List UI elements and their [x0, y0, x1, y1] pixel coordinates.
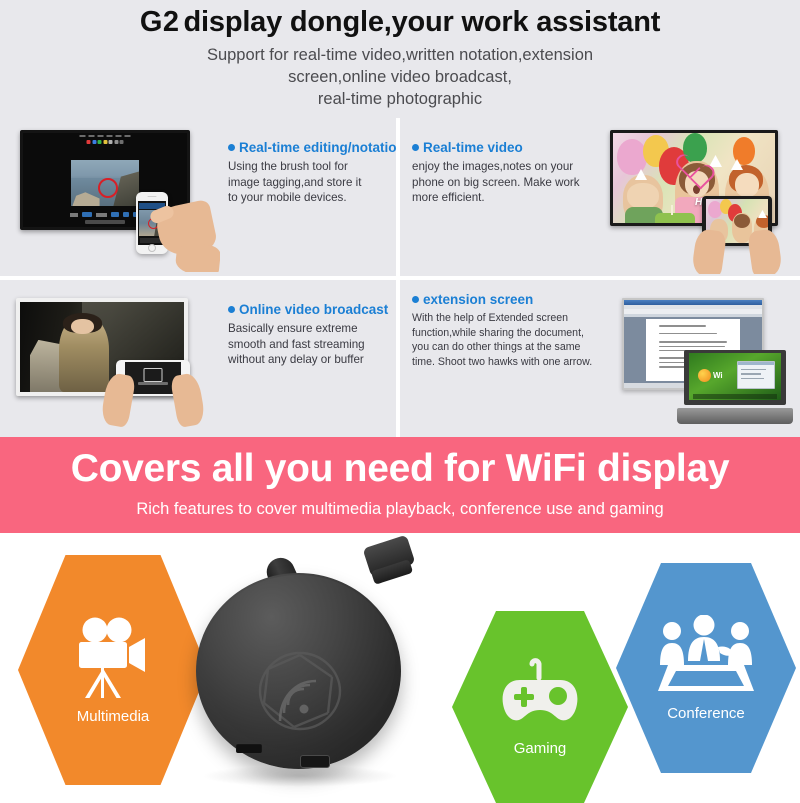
bullet-dot-icon	[228, 306, 235, 313]
feature-body-line: enjoy the images,notes on your	[412, 159, 587, 175]
dongle-reset-button[interactable]	[300, 755, 330, 768]
conference-people-icon	[654, 615, 758, 699]
feature-body-line: without any delay or buffer	[228, 352, 390, 368]
laptop-illustration: Wi	[684, 350, 786, 424]
hexagon-multimedia[interactable]: Multimedia	[18, 555, 208, 785]
feature-cell-real-time-editing: Real-time editing/notation Using the bru…	[0, 118, 396, 276]
photo-extension-screen: Wi	[606, 284, 798, 434]
feature-body-line: more efficient.	[412, 190, 587, 206]
feature-body-line: Using the brush tool for	[228, 159, 388, 175]
hand-illustration	[747, 228, 783, 274]
page-subtitle-line: Support for real-time video,written nota…	[207, 44, 593, 66]
feature-body-line: function,while sharing the document,	[412, 326, 608, 341]
feature-body-line: phone on big screen. Make work	[412, 175, 587, 191]
photo-real-time-video: Happy Birthday	[598, 122, 798, 274]
feature-heading: Real-time editing/notation	[228, 140, 388, 155]
page-subtitle-line: screen,online video broadcast,	[207, 66, 593, 88]
banner-subtitle: Rich features to cover multimedia playba…	[136, 500, 663, 519]
feature-body: Basically ensure extreme smooth and fast…	[228, 321, 390, 368]
hand-illustration	[691, 228, 727, 274]
page-subtitle-line: real-time photographic	[207, 88, 593, 110]
feature-body-line: smooth and fast streaming	[228, 337, 390, 353]
cast-icon	[144, 368, 163, 382]
photo-real-time-editing	[8, 124, 220, 272]
bullet-dot-icon	[412, 144, 419, 151]
gamepad-icon	[498, 658, 582, 736]
feature-text-online-video-broadcast: Online video broadcast Basically ensure …	[228, 302, 390, 368]
dongle-top-face	[202, 575, 395, 751]
feature-heading: Online video broadcast	[228, 302, 390, 317]
hexagon-label-gaming: Gaming	[514, 740, 567, 757]
feature-heading: Real-time video	[412, 140, 587, 155]
feature-body-line: Basically ensure extreme	[228, 321, 390, 337]
feature-body: enjoy the images,notes on your phone on …	[412, 159, 587, 206]
windows-logo-icon	[698, 369, 711, 382]
feature-text-real-time-video: Real-time video enjoy the images,notes o…	[412, 140, 587, 206]
page-title-rest: display dongle,your work assistant	[184, 6, 661, 38]
hexagon-gaming[interactable]: Gaming	[452, 611, 628, 803]
hexagon-conference[interactable]: Conference	[616, 563, 796, 773]
feature-body-line: time. Shoot two hawks with one arrow.	[412, 355, 608, 370]
feature-body: Using the brush tool for image tagging,a…	[228, 159, 388, 206]
hexagon-label-conference: Conference	[667, 705, 745, 722]
product-marketing-page: G2display dongle,your work assistant Sup…	[0, 0, 800, 800]
feature-body-line: you can do other things at the same	[412, 340, 608, 355]
feature-text-real-time-editing: Real-time editing/notation Using the bru…	[228, 140, 388, 206]
product-dongle-image	[196, 547, 426, 791]
feature-cell-extension-screen: extension screen With the help of Extend…	[400, 280, 800, 437]
feature-heading-label: Real-time editing/notation	[239, 140, 396, 155]
feature-body-line: With the help of Extended screen	[412, 311, 608, 326]
page-subtitle: Support for real-time video,written nota…	[207, 44, 593, 110]
feature-text-extension-screen: extension screen With the help of Extend…	[412, 292, 608, 369]
dongle-micro-usb-port	[236, 743, 262, 753]
feature-body-line: image tagging,and store it	[228, 175, 388, 191]
feature-cell-online-video-broadcast: Online video broadcast Basically ensure …	[0, 280, 396, 437]
feature-heading-label: Online video broadcast	[239, 302, 388, 317]
header-section: G2display dongle,your work assistant Sup…	[0, 0, 800, 118]
movie-camera-icon	[71, 616, 155, 702]
feature-grid: Real-time editing/notation Using the bru…	[0, 118, 800, 437]
wrist-illustration	[175, 242, 220, 272]
feature-body: With the help of Extended screen functio…	[412, 311, 608, 369]
banner-title: Covers all you need for WiFi display	[71, 447, 730, 491]
hexagon-label-multimedia: Multimedia	[77, 708, 150, 725]
page-title-brand: G2	[140, 6, 180, 38]
feature-heading-label: Real-time video	[423, 140, 523, 155]
banner-section: Covers all you need for WiFi display Ric…	[0, 437, 800, 533]
aperture-cast-logo-icon	[254, 647, 346, 735]
showcase-section: Multimedia Gaming	[0, 533, 800, 800]
feature-cell-real-time-video: Real-time video enjoy the images,notes o…	[400, 118, 800, 276]
photo-online-video-broadcast	[8, 288, 223, 430]
bullet-dot-icon	[228, 144, 235, 151]
hand-illustration	[170, 372, 207, 428]
feature-heading: extension screen	[412, 292, 608, 307]
page-title: G2display dongle,your work assistant	[140, 6, 660, 39]
feature-body-line: to your mobile devices.	[228, 190, 388, 206]
bullet-dot-icon	[412, 296, 419, 303]
feature-heading-label: extension screen	[423, 292, 533, 307]
